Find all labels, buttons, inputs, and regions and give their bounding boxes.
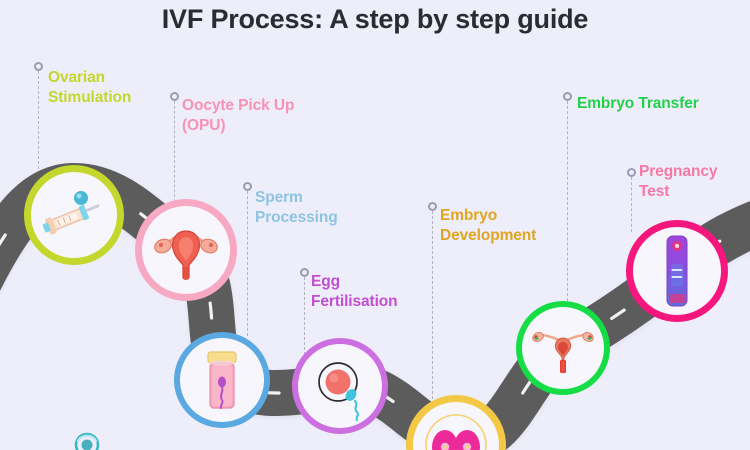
- uterus-catheter-icon: [527, 318, 599, 378]
- pin-connector-line: [567, 101, 568, 301]
- step-label-embryo-transfer: Embryo Transfer: [577, 94, 699, 114]
- step-label-oocyte-pick-up: Oocyte Pick Up (OPU): [182, 96, 294, 136]
- uterus-ovaries-icon: [148, 215, 224, 285]
- station-egg-fertilisation[interactable]: [292, 338, 388, 434]
- station-embryo-transfer[interactable]: [516, 301, 610, 395]
- pin-dot-icon: [243, 182, 252, 191]
- station-pregnancy-test[interactable]: [626, 220, 728, 322]
- pin-dot-icon: [300, 268, 309, 277]
- step-label-embryo-development: Embryo Development: [440, 206, 536, 246]
- pin-connector-line: [247, 191, 248, 336]
- pregnancy-test-icon: [654, 232, 700, 310]
- specimen-container-icon: [191, 342, 253, 418]
- clinic-logo-watermark: [72, 428, 102, 450]
- pin-connector-line: [631, 177, 632, 232]
- ivf-process-infographic: IVF Process: A step by step guide Ovaria…: [0, 0, 750, 450]
- syringe-icon: [37, 178, 111, 252]
- embryo-icon: [421, 410, 491, 450]
- pin-connector-line: [304, 277, 305, 355]
- page-title: IVF Process: A step by step guide: [0, 4, 750, 35]
- step-label-ovarian-stimulation: Ovarian Stimulation: [48, 68, 131, 108]
- station-sperm-processing[interactable]: [174, 332, 270, 428]
- pin-connector-line: [38, 71, 39, 169]
- station-oocyte-pick-up[interactable]: [135, 199, 237, 301]
- pin-dot-icon: [34, 62, 43, 71]
- pin-dot-icon: [563, 92, 572, 101]
- pin-dot-icon: [170, 92, 179, 101]
- pin-connector-line: [432, 211, 433, 409]
- pin-dot-icon: [428, 202, 437, 211]
- step-label-egg-fertilisation: Egg Fertilisation: [311, 272, 398, 312]
- pin-dot-icon: [627, 168, 636, 177]
- step-label-pregnancy-test: Pregnancy Test: [639, 162, 717, 202]
- egg-fertilisation-icon: [303, 351, 377, 421]
- station-ovarian-stimulation[interactable]: [24, 165, 124, 265]
- step-label-sperm-processing: Sperm Processing: [255, 188, 338, 228]
